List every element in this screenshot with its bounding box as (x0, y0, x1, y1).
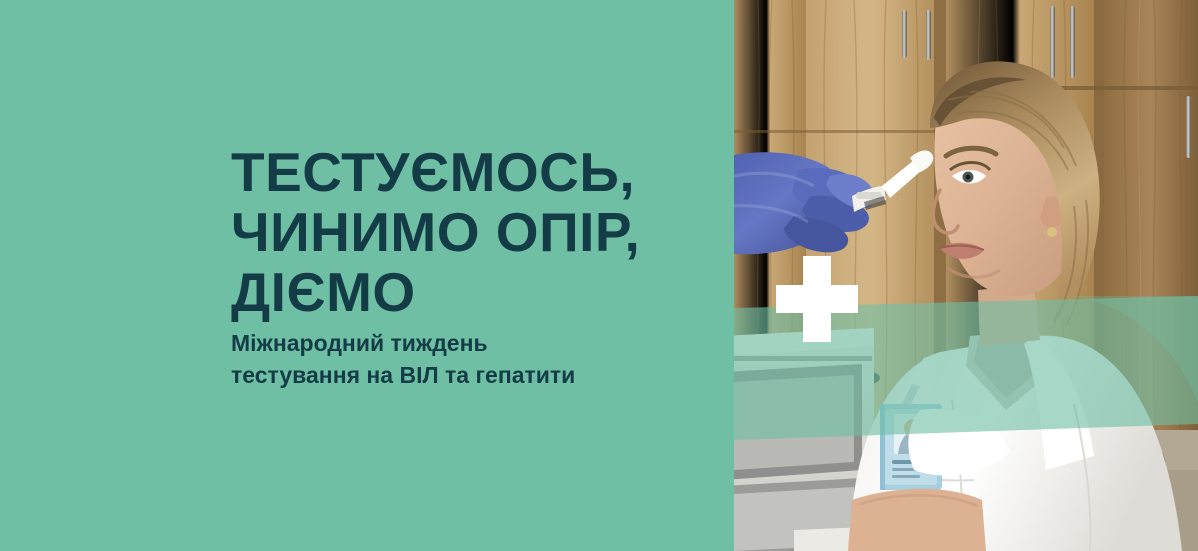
subtitle-line-1: Міжнародний тиждень (231, 327, 701, 359)
promo-banner: ТЕСТУЄМОСЬ, ЧИНИМО ОПІР, ДІЄМО Міжнародн… (0, 0, 1198, 551)
headline-line-2: ЧИНИМО ОПІР, (231, 202, 701, 262)
cross-horizontal-bar (776, 285, 858, 313)
subtitle-line-2: тестування на ВІЛ та гепатити (231, 359, 701, 391)
medical-cross-icon (776, 256, 858, 342)
left-green-panel: ТЕСТУЄМОСЬ, ЧИНИМО ОПІР, ДІЄМО Міжнародн… (0, 0, 734, 551)
page-title: ТЕСТУЄМОСЬ, ЧИНИМО ОПІР, ДІЄМО (231, 142, 701, 322)
headline-line-1: ТЕСТУЄМОСЬ, (231, 142, 701, 202)
page-subtitle: Міжнародний тиждень тестування на ВІЛ та… (231, 327, 701, 391)
headline-line-3: ДІЄМО (231, 262, 701, 322)
